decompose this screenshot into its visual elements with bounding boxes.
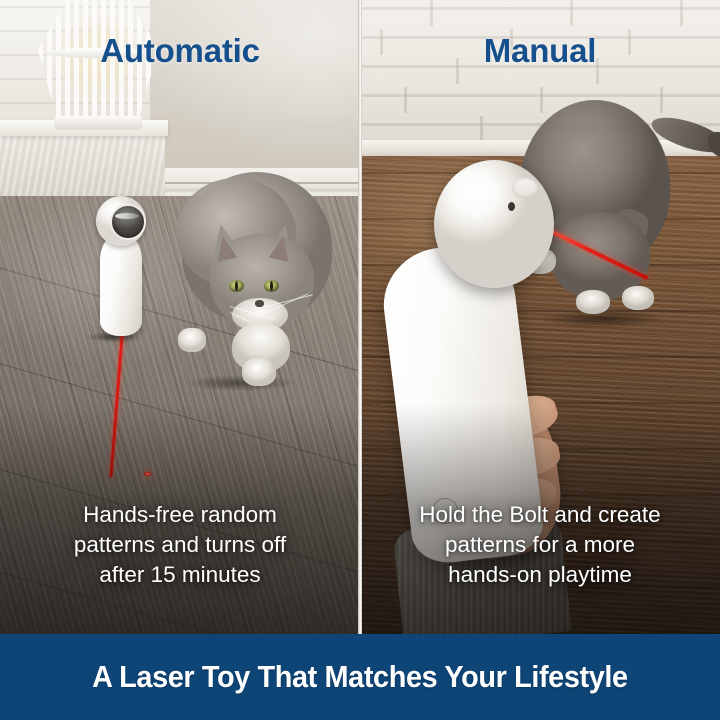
caption-line: after 15 minutes (14, 560, 346, 590)
bottom-banner: A Laser Toy That Matches Your Lifestyle (0, 634, 720, 720)
banner-headline: A Laser Toy That Matches Your Lifestyle (92, 659, 628, 695)
caption-line: hands-on playtime (374, 560, 706, 590)
panel-container: Automatic Hands-free random patterns and… (0, 0, 720, 634)
laser-lens-icon (110, 204, 146, 240)
caption-line: patterns and turns off (14, 530, 346, 560)
panel-divider (358, 0, 362, 634)
panel-caption-automatic: Hands-free random patterns and turns off… (14, 500, 346, 590)
cat-nose (255, 300, 264, 307)
comparison-infographic: Automatic Hands-free random patterns and… (0, 0, 720, 720)
panel-caption-manual: Hold the Bolt and create patterns for a … (374, 500, 706, 590)
device-head (434, 160, 554, 288)
caption-line: patterns for a more (374, 530, 706, 560)
panel-heading-automatic: Automatic (0, 32, 360, 70)
caption-line: Hands-free random (14, 500, 346, 530)
cat-paw-left (178, 328, 206, 352)
cat-paw-front (242, 358, 276, 386)
device-body (100, 234, 142, 336)
cat-eye-left (229, 280, 244, 292)
automatic-laser-device[interactable] (88, 196, 154, 336)
panel-heading-manual: Manual (360, 32, 720, 70)
panel-manual[interactable]: Manual Hold the Bolt and create patterns… (360, 0, 720, 634)
caption-line: Hold the Bolt and create (374, 500, 706, 530)
panel-automatic[interactable]: Automatic Hands-free random patterns and… (0, 0, 360, 634)
cat-grey-white (176, 172, 360, 396)
cat-eye-right (264, 280, 279, 292)
laser-emitter-icon (508, 202, 515, 211)
power-button[interactable] (512, 178, 538, 198)
